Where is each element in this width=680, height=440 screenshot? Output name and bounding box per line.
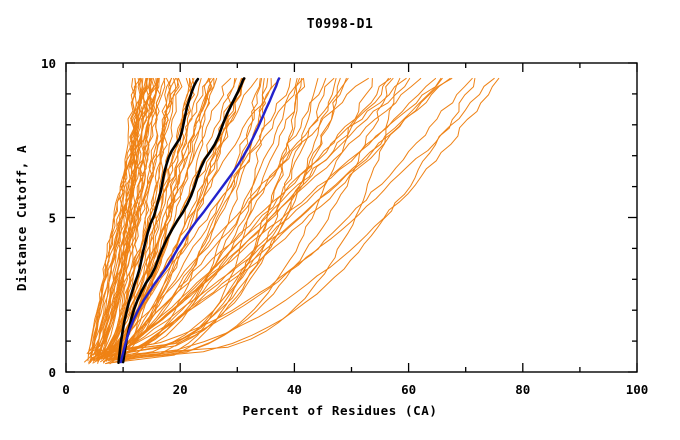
x-axis-title: Percent of Residues (CA) [242, 403, 437, 418]
y-tick-label: 0 [48, 365, 56, 380]
bundle-lines [85, 78, 499, 363]
x-tick-label: 0 [62, 382, 70, 397]
page-title: T0998-D1 [307, 17, 374, 32]
y-tick-label: 5 [48, 211, 56, 226]
plot-svg: T0998-D1 Distance Cutoff, A Percent of R… [0, 0, 680, 440]
y-tick-label: 10 [41, 56, 56, 71]
x-tick-label: 60 [401, 382, 416, 397]
y-axis-title: Distance Cutoff, A [14, 145, 29, 291]
x-tick-label: 20 [173, 382, 188, 397]
x-tick-label: 80 [515, 382, 530, 397]
series-bundle-group [85, 78, 499, 363]
x-tick-label: 100 [626, 382, 649, 397]
chart-container: T0998-D1 Distance Cutoff, A Percent of R… [0, 0, 680, 440]
x-tick-label: 40 [287, 382, 302, 397]
